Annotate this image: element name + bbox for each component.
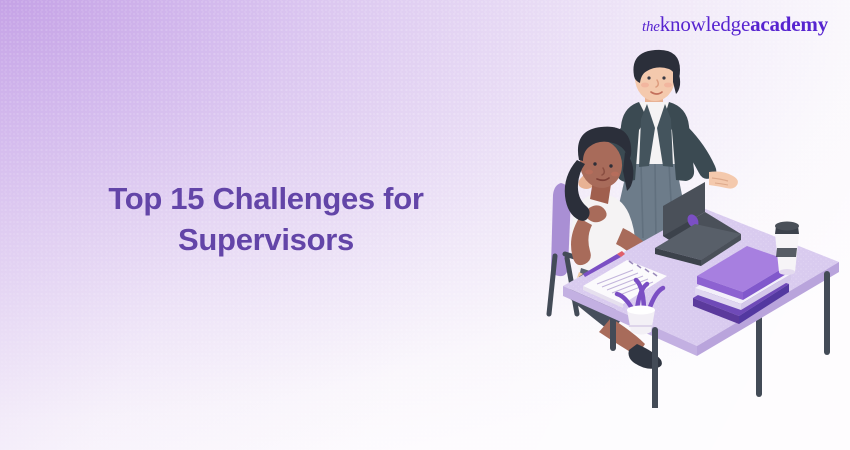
logo-word-knowledge: knowledge: [660, 12, 750, 36]
promo-banner: theknowledgeacademy Top 15 Challenges fo…: [0, 0, 850, 450]
logo-word-the: the: [642, 19, 660, 35]
page-title: Top 15 Challenges for Supervisors: [40, 178, 492, 260]
coffee-cup-icon: [775, 222, 799, 276]
page-title-line-1: Top 15 Challenges for: [40, 178, 492, 219]
logo-word-academy: academy: [750, 12, 828, 36]
office-scene-illustration: [545, 48, 850, 408]
page-title-line-2: Supervisors: [40, 219, 492, 260]
gesturing-hand-icon: [709, 172, 738, 189]
brand-logo[interactable]: theknowledgeacademy: [642, 14, 828, 35]
